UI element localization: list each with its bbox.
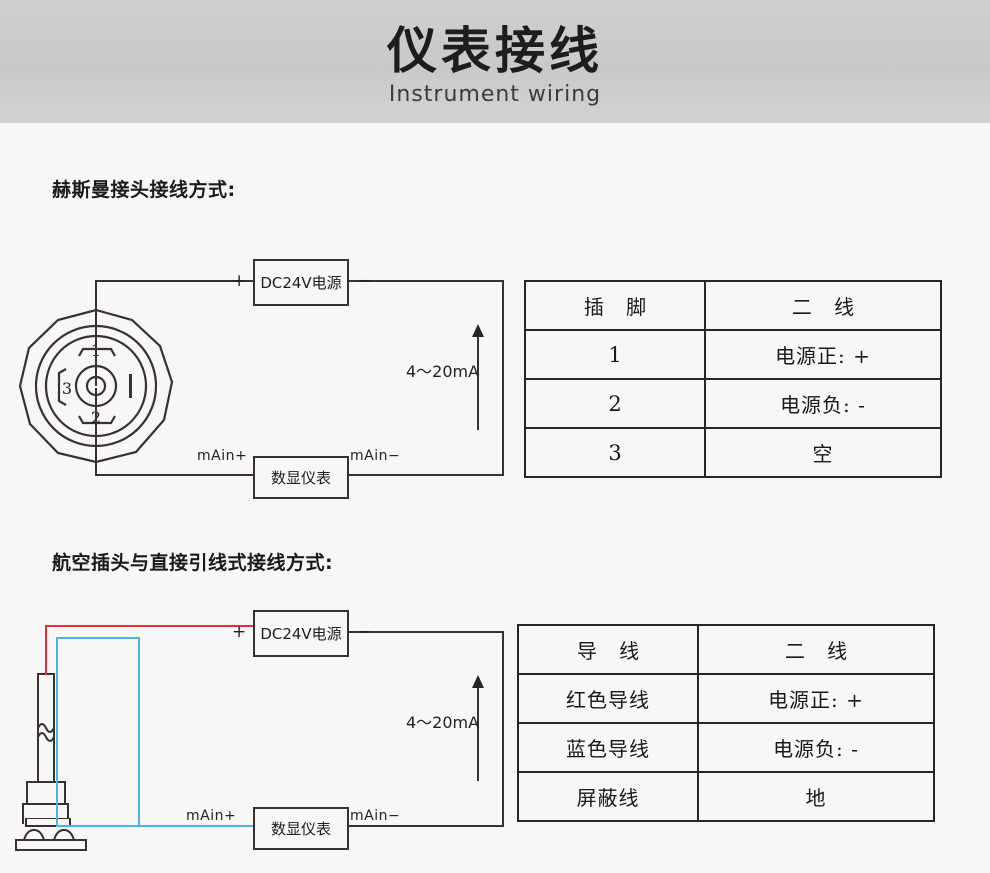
svg-text:3: 3 <box>62 379 72 398</box>
probe-sensor-illustration <box>20 672 106 822</box>
wiring-table-hirschmann: 插 脚 二 线 1 电源正: + 2 电源负: - 3 空 <box>524 280 942 478</box>
main-plus-label-2: mAin+ <box>186 808 236 824</box>
digital-meter-box-2: 数显仪表 <box>253 807 349 850</box>
table-cell-pin: 3 <box>525 428 705 477</box>
table-cell-function: 电源正: + <box>698 674 934 723</box>
current-arrow-head-2 <box>472 675 484 688</box>
main-minus-label-2: mAin− <box>350 808 400 824</box>
wire-pin1-vertical <box>95 280 97 386</box>
table-row: 插 脚 二 线 <box>525 281 941 330</box>
table-row: 3 空 <box>525 428 941 477</box>
table-cell-pin: 1 <box>525 330 705 379</box>
wiring-table-aviation-plug: 导 线 二 线 红色导线 电源正: + 蓝色导线 电源负: - 屏蔽线 地 <box>517 624 935 822</box>
table-cell-function: 地 <box>698 772 934 821</box>
current-arrow-head <box>472 324 484 337</box>
section-title-aviation-plug: 航空插头与直接引线式接线方式: <box>52 548 333 575</box>
wire-pin2-vertical <box>95 388 97 476</box>
table-cell-function: 电源正: + <box>705 330 941 379</box>
table-row: 导 线 二 线 <box>518 625 934 674</box>
power-plus-label-2: + <box>232 622 247 642</box>
page-header: 仪表接线 Instrument wiring <box>0 0 990 123</box>
wire-blue-vertical-left <box>56 637 58 827</box>
table-cell-function: 电源负: - <box>698 723 934 772</box>
table-header-wire: 导 线 <box>518 625 698 674</box>
table-cell-wire: 蓝色导线 <box>518 723 698 772</box>
power-plus-label-1: + <box>232 271 247 291</box>
current-range-label-2: 4～20mA <box>406 709 479 733</box>
wire-red-horizontal <box>45 625 254 627</box>
wire-loop-right-2 <box>502 631 504 827</box>
table-header-twowire: 二 线 <box>705 281 941 330</box>
wire-blue-horizontal-top <box>56 637 140 639</box>
current-arrow-shaft <box>477 336 479 430</box>
power-minus-label-1: − <box>357 271 372 291</box>
table-row: 屏蔽线 地 <box>518 772 934 821</box>
table-row: 1 电源正: + <box>525 330 941 379</box>
current-arrow-shaft-2 <box>477 687 479 781</box>
table-cell-pin: 2 <box>525 379 705 428</box>
table-cell-function: 电源负: - <box>705 379 941 428</box>
wire-blue-horizontal-bottom <box>56 825 254 827</box>
main-plus-label-1: mAin+ <box>197 448 247 464</box>
table-row: 2 电源负: - <box>525 379 941 428</box>
table-row: 红色导线 电源正: + <box>518 674 934 723</box>
page-title: 仪表接线 <box>0 22 990 80</box>
table-row: 蓝色导线 电源负: - <box>518 723 934 772</box>
table-cell-function: 空 <box>705 428 941 477</box>
page-subtitle: Instrument wiring <box>0 82 990 107</box>
table-cell-wire: 红色导线 <box>518 674 698 723</box>
wire-pin2-bottom <box>95 474 255 476</box>
main-minus-label-1: mAin− <box>350 448 400 464</box>
digital-meter-box-1: 数显仪表 <box>253 456 349 499</box>
table-header-twowire: 二 线 <box>698 625 934 674</box>
wire-loop-right <box>502 280 504 476</box>
table-cell-wire: 屏蔽线 <box>518 772 698 821</box>
table-header-pin: 插 脚 <box>525 281 705 330</box>
wire-meter-minus <box>345 474 504 476</box>
wire-red-vertical <box>45 625 47 675</box>
dc24v-power-box-1: DC24V电源 <box>253 259 349 306</box>
wire-meter-minus-2 <box>345 825 504 827</box>
wire-pin1-top <box>95 280 255 282</box>
wire-blue-vertical-right <box>138 637 140 827</box>
dc24v-power-box-2: DC24V电源 <box>253 610 349 657</box>
power-minus-label-2: − <box>357 622 372 642</box>
current-range-label-1: 4～20mA <box>406 358 479 382</box>
section-title-hirschmann: 赫斯曼接头接线方式: <box>52 175 236 202</box>
